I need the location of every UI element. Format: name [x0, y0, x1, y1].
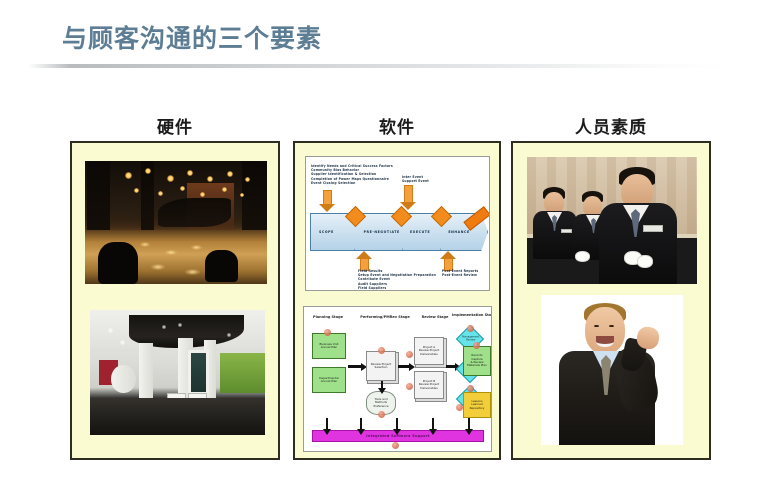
status-dot [378, 411, 385, 418]
inbound-arrow-shaft [404, 185, 413, 203]
ceiling-light [207, 176, 213, 182]
white-sculpture [111, 365, 136, 393]
ceiling-light [240, 193, 244, 197]
ceiling-light [180, 186, 185, 191]
ceiling-light [178, 323, 182, 327]
flow-node-project-b: Project B Review Project Deliverables [414, 371, 444, 399]
flow-node-business-plan: Business Unit Annual Plan [312, 333, 346, 359]
process-step-label: PRE-NEGOTIATE [364, 230, 400, 234]
white-column [139, 343, 153, 406]
title-divider [28, 64, 728, 68]
ceiling-light [227, 333, 231, 337]
status-dot [324, 329, 331, 336]
support-arrow [468, 418, 470, 430]
title-block: 与顾客沟通的三个要素 [0, 22, 765, 78]
status-dot [467, 325, 474, 332]
flow-node-label: Results Review [456, 395, 486, 401]
support-arrow [396, 418, 398, 430]
ceiling-light [187, 170, 193, 176]
inbound-arrow-shaft [323, 190, 332, 205]
support-arrow [360, 418, 362, 430]
process-step-label: EXECUTE [410, 230, 430, 234]
stage-header-review: Review Stage [418, 315, 452, 319]
modern-showroom-lobby-photo [90, 310, 265, 435]
ceiling-light [162, 325, 166, 329]
flow-node-project-a: Project A Review Project Deliverables [414, 337, 444, 365]
businessman-with-keys-photo [541, 295, 683, 445]
flow-node-label: Management Review [456, 335, 486, 341]
ceiling-light [227, 171, 233, 177]
light-reflection [165, 250, 177, 255]
light-reflection [191, 245, 202, 250]
flow-node-label: Follow-up & Audit [456, 365, 486, 371]
column-header-software: 软件 [293, 117, 501, 139]
name-badge [643, 225, 663, 232]
stage-header-implementation: Implementation Stage [452, 313, 490, 317]
column-header-people: 人员素质 [511, 117, 711, 139]
light-reflection [140, 242, 150, 247]
flow-arrow [398, 365, 410, 368]
green-accent-wall [220, 353, 266, 393]
chandelier-shape [158, 198, 231, 228]
white-glove [637, 255, 653, 268]
process-bottom-note-left: Field Results Setup Event and Negotiatio… [358, 269, 436, 290]
ceiling-light [120, 340, 125, 345]
inbound-arrow-head [356, 251, 372, 259]
process-bottom-note-right: Post-Event Reports Post-Event Review [442, 269, 478, 277]
process-step-label: SCOPE [319, 230, 334, 234]
hotel-staff-photo [527, 157, 697, 284]
flow-arrow-down [381, 381, 383, 389]
flow-arrow [446, 365, 456, 368]
column-header-hardware: 硬件 [70, 117, 280, 139]
ceiling-light [167, 175, 174, 182]
hotel-bar-lobby-photo [85, 161, 267, 284]
status-dot [467, 385, 474, 392]
stage-header-planning: Planning Stage [308, 315, 348, 319]
ceiling-light [200, 192, 205, 197]
process-top-note: Identify Needs and Critical Success Fact… [311, 164, 393, 185]
process-top-right-note: Inter Event Support Event [402, 175, 429, 183]
stage-flowchart-diagram: Planning Stage Performing/PMRev Stage Re… [303, 306, 492, 452]
flow-node-review-selection: Review Project Selection [366, 351, 396, 381]
bar-seating [98, 242, 138, 284]
inbound-arrow-head [440, 251, 456, 259]
staff-member-front [599, 167, 677, 284]
slide-canvas: 与顾客沟通的三个要素 硬件 软件 人员素质 [0, 0, 765, 501]
ceiling-light [222, 187, 227, 192]
eye [609, 325, 614, 327]
floor-region [90, 398, 265, 436]
software-panel: Identify Needs and Critical Success Fact… [293, 141, 501, 460]
hardware-panel [70, 141, 280, 460]
process-chevron-diagram: Identify Needs and Critical Success Fact… [305, 156, 490, 291]
status-dot [406, 351, 413, 358]
flow-arrow [348, 365, 362, 368]
status-dot [392, 442, 399, 449]
people-panel [511, 141, 711, 460]
support-arrow [432, 418, 434, 430]
process-step-label: ENHANCE [448, 230, 469, 234]
status-dot [467, 355, 474, 362]
status-dot [406, 383, 413, 390]
staff-member-left [533, 187, 577, 257]
page-title: 与顾客沟通的三个要素 [62, 22, 322, 56]
white-glove [575, 251, 590, 262]
bar-seating [205, 250, 238, 282]
ceiling-light [108, 328, 113, 333]
inbound-arrow-head [319, 204, 335, 212]
eye [594, 325, 599, 327]
display-mirror [188, 350, 209, 395]
name-badge [561, 229, 572, 233]
ceiling-light [158, 191, 163, 196]
flow-node-department-plan: Departmental Annual Plan [312, 367, 346, 393]
status-dot [378, 347, 385, 354]
stage-header-performing: Performing/PMRev Stage [354, 315, 416, 319]
smile [596, 336, 614, 347]
support-arrow [326, 418, 328, 430]
